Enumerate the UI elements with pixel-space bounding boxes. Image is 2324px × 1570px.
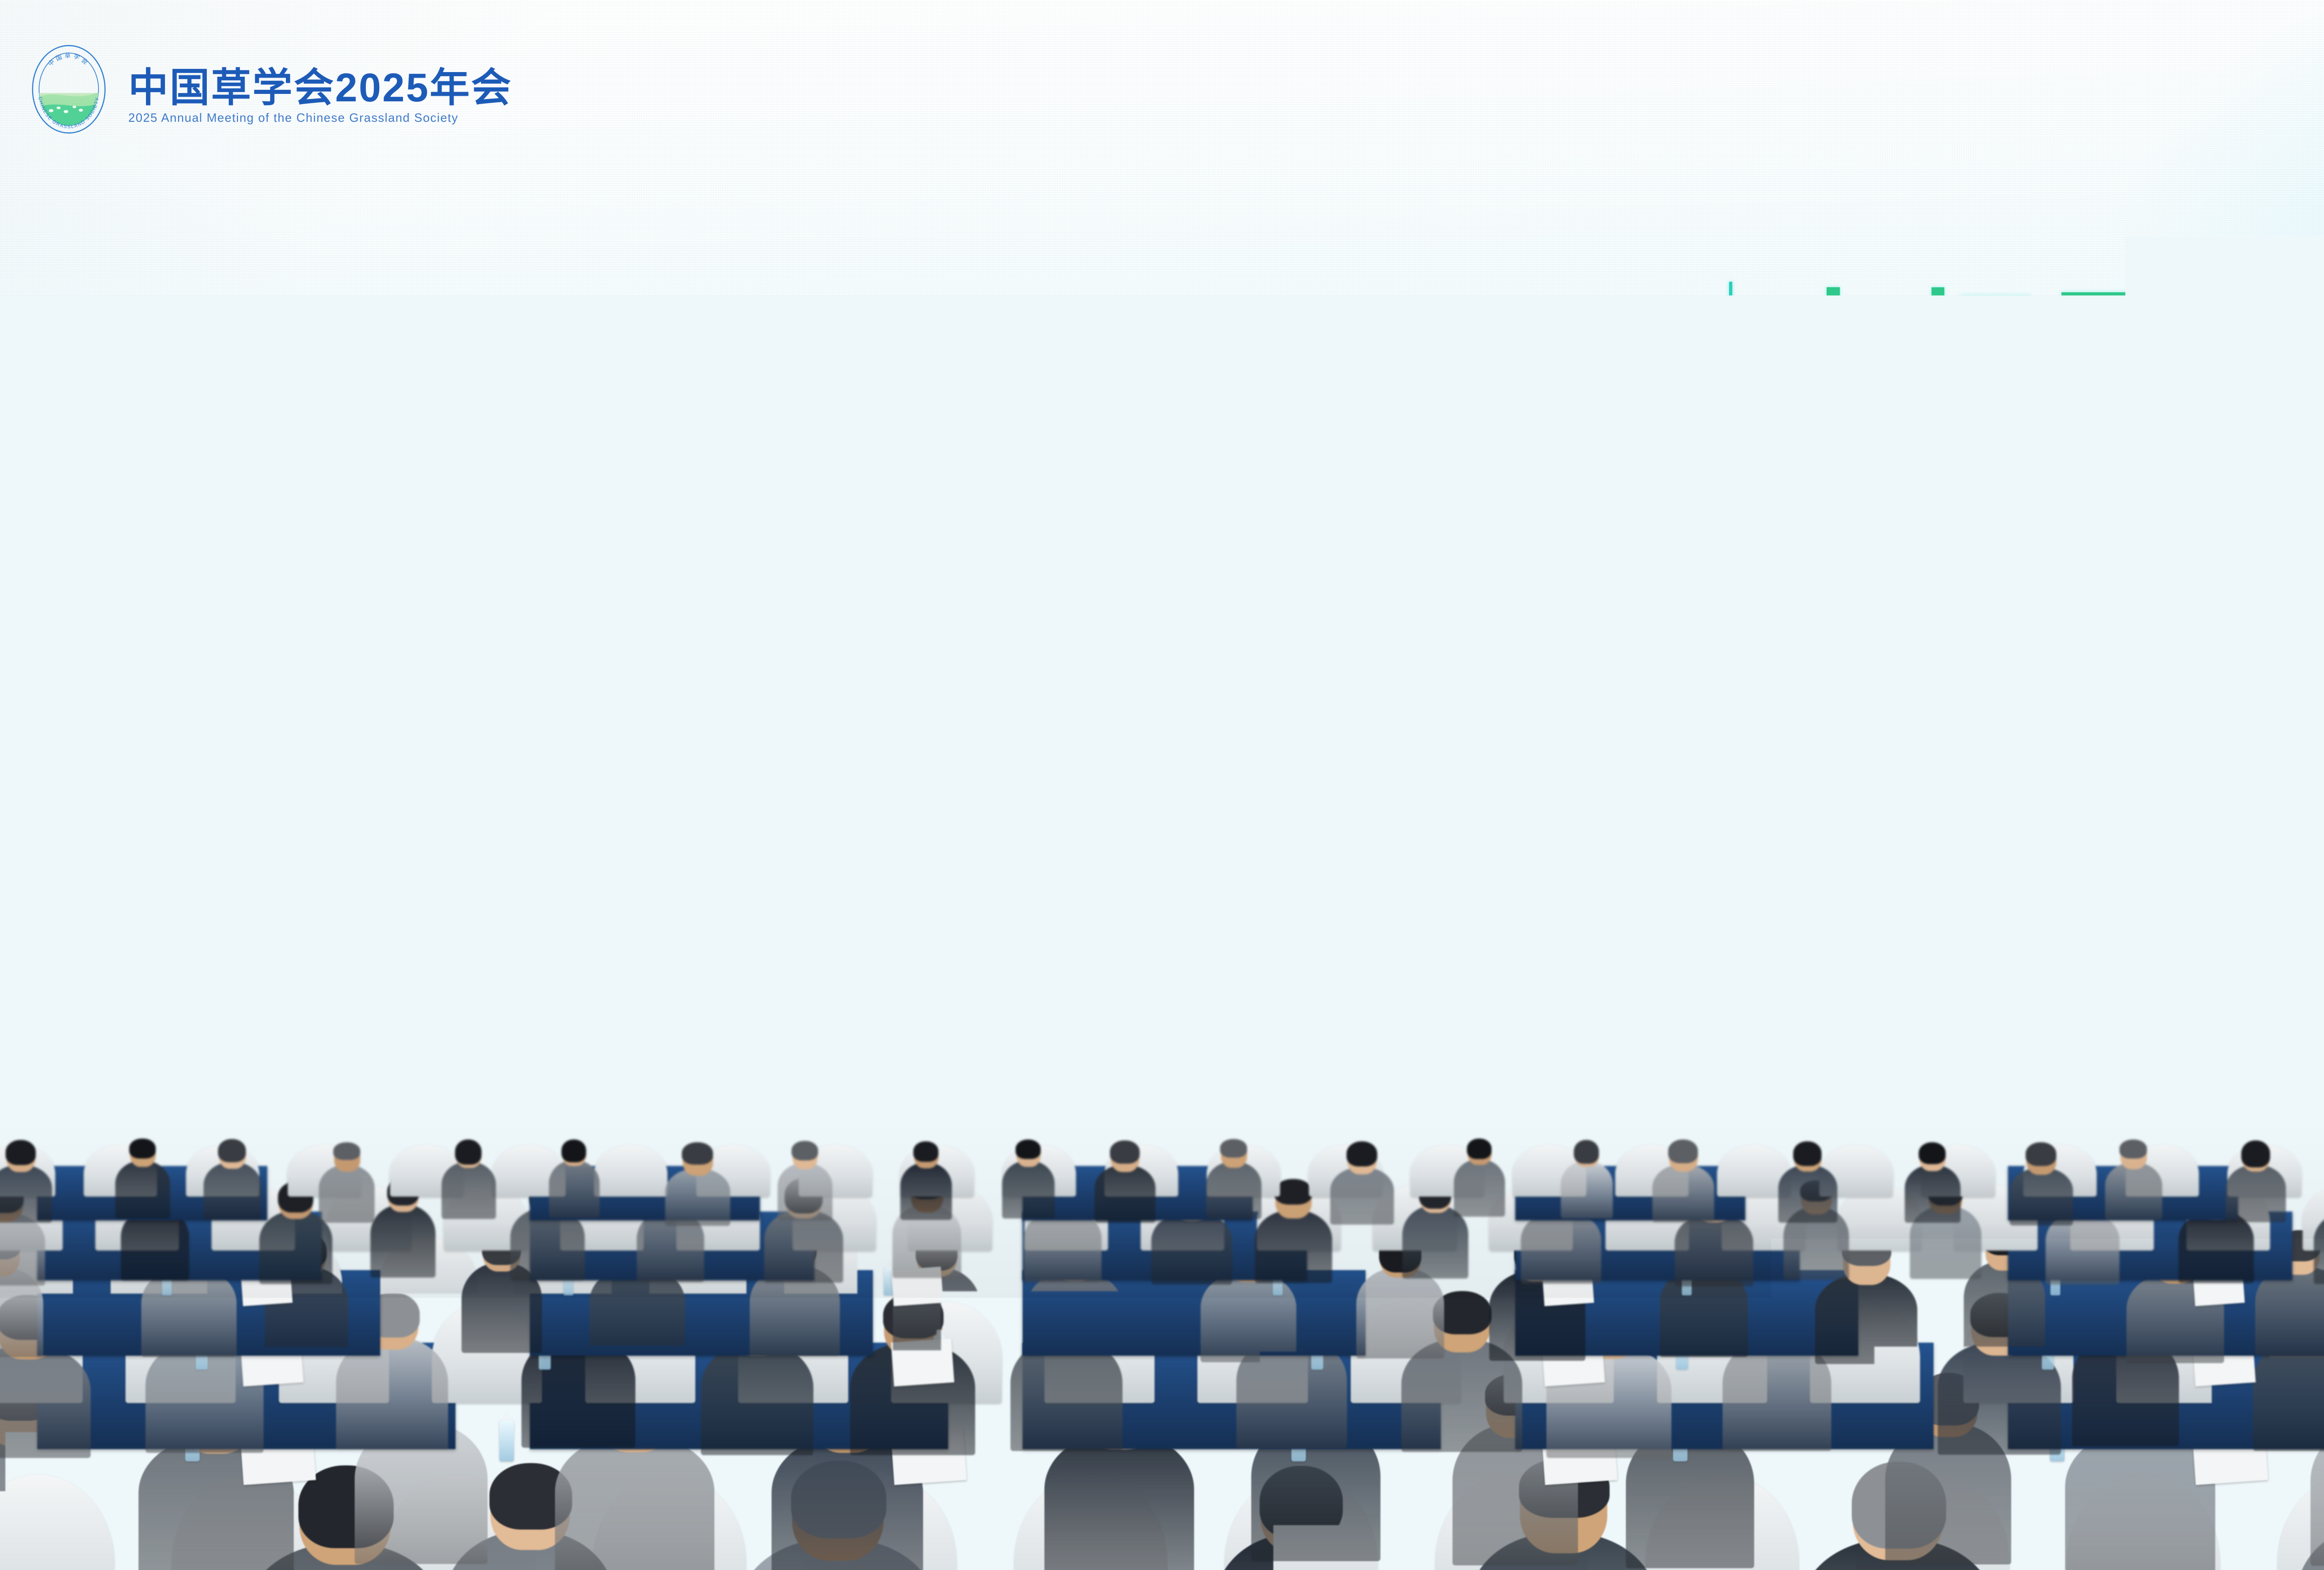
audience-member-hair bbox=[1347, 1141, 1377, 1166]
audience-member bbox=[1221, 1140, 1278, 1204]
panelist-seat: 于贵瑞 bbox=[2085, 848, 2182, 953]
audience-member bbox=[1669, 1140, 1732, 1204]
audience-member bbox=[562, 1140, 614, 1204]
audience-member-torso bbox=[319, 1165, 375, 1223]
audience-member-torso bbox=[2105, 1163, 2162, 1220]
audience-member bbox=[1111, 1141, 1173, 1205]
audience-member-hair bbox=[1110, 1140, 1139, 1164]
panelist-seat: 林 坚 bbox=[1787, 848, 1885, 953]
audience-member bbox=[456, 1140, 512, 1204]
water-bottle bbox=[500, 1420, 514, 1462]
audience-member-torso bbox=[0, 1345, 91, 1458]
audience-member-torso bbox=[1027, 1271, 1122, 1361]
panelist-hair bbox=[1814, 848, 1855, 872]
panelist-hair bbox=[1196, 848, 1237, 872]
panelist-hair bbox=[1517, 848, 1558, 872]
audience-member bbox=[334, 1143, 391, 1207]
conference-stage-screenshot: 中国草学会 CHINESE GRASSLAND SOCIETY 中国草学会202… bbox=[0, 0, 2324, 1570]
svg-text:中国草学会: 中国草学会 bbox=[46, 52, 91, 67]
audience-member-hair bbox=[218, 1139, 246, 1163]
lectern-organizers: 主办单位：中国草学会 承办单位：青岛农业大学 bbox=[523, 977, 663, 986]
audience-member-hair bbox=[1467, 1139, 1492, 1159]
panelist-seat: 南志标 bbox=[1936, 848, 2033, 953]
audience-member-torso bbox=[2010, 1168, 2073, 1226]
panelist-lanyard bbox=[1373, 900, 1375, 926]
audience-member-hair bbox=[455, 1139, 482, 1165]
audience-member bbox=[7, 1141, 70, 1205]
audience-member-hair bbox=[1793, 1141, 1822, 1166]
audience-member-hair bbox=[682, 1142, 713, 1165]
speaker-handle-slot bbox=[1001, 1054, 1009, 1078]
slide-kicker: 领导致辞 bbox=[1255, 409, 1729, 483]
audience-member bbox=[1794, 1142, 1855, 1206]
grassland-society-emblem-icon: 中国草学会 CHINESE GRASSLAND SOCIETY bbox=[22, 43, 115, 136]
audience-member-torso bbox=[1255, 1210, 1332, 1283]
panelist-seat: 李拥军 bbox=[1638, 848, 1736, 953]
audience-member bbox=[2027, 1143, 2092, 1207]
audience-member-torso bbox=[1151, 1212, 1232, 1285]
audience-member-torso bbox=[701, 1343, 813, 1455]
audience-member bbox=[2242, 1141, 2304, 1205]
audience-member-torso bbox=[665, 1169, 730, 1226]
audience-member-torso bbox=[2226, 1165, 2286, 1223]
audience-member-hair bbox=[333, 1142, 360, 1160]
audience-member-hair bbox=[561, 1139, 586, 1162]
title-divider-line bbox=[1729, 282, 1732, 649]
lectern-branding: 中国草学会2025年会 2025 Annual Meeting of the C… bbox=[507, 872, 683, 889]
panelist-seat: 张英俊 bbox=[1169, 848, 1267, 953]
audience-member-hair bbox=[1016, 1139, 1041, 1159]
audience-member bbox=[1575, 1141, 1628, 1205]
speaker-column: 李拥军 国家林业和草原局草原管理司司长 bbox=[1771, 279, 2324, 496]
audience-member-hair bbox=[129, 1139, 156, 1159]
audience-member bbox=[1017, 1140, 1070, 1204]
panelist-hair bbox=[1963, 848, 2004, 872]
panelist-hair bbox=[1354, 848, 1395, 872]
audience-member-torso bbox=[549, 1160, 600, 1218]
audience-area bbox=[0, 1120, 2324, 1570]
audience-member-hair bbox=[2026, 1142, 2056, 1166]
audience-member-torso bbox=[1095, 1165, 1155, 1223]
audience-member-torso bbox=[1044, 1433, 1194, 1570]
audience-member-torso bbox=[1675, 1213, 1753, 1286]
panelist-seat: 徐明岗 bbox=[2233, 848, 2324, 953]
audience-member bbox=[683, 1143, 749, 1207]
panelist-seat: 赵东海 bbox=[1327, 848, 1425, 953]
lectern-tagline: 科技赋能草地“中国” bbox=[523, 957, 663, 977]
speaker-name: 李拥军 bbox=[1771, 285, 2324, 417]
audience-member-torso bbox=[442, 1162, 496, 1219]
audience-member-hair bbox=[2241, 1140, 2270, 1167]
audience-member-torso bbox=[555, 1435, 714, 1570]
audience-member-torso bbox=[1002, 1161, 1055, 1219]
audience-member-torso bbox=[0, 1212, 45, 1285]
audience-member-torso bbox=[1652, 1165, 1714, 1222]
audience-member bbox=[1468, 1139, 1520, 1203]
audience-member bbox=[914, 1142, 967, 1206]
audience-member-hair bbox=[913, 1141, 938, 1162]
audience-member-hair bbox=[2119, 1139, 2147, 1159]
kicker-column: 领导致辞 bbox=[1255, 279, 1729, 483]
audience-member-torso bbox=[115, 1161, 170, 1219]
audience-member-torso bbox=[1815, 1274, 1917, 1365]
audience-member-torso bbox=[370, 1205, 436, 1278]
panelist-lanyard bbox=[2279, 900, 2282, 926]
speaker-role: 国家林业和草原局草原管理司司长 bbox=[1771, 432, 2324, 496]
audience-member-hair bbox=[1574, 1140, 1599, 1164]
audience-member-torso bbox=[1206, 1162, 1261, 1219]
panelist-hair bbox=[2260, 848, 2301, 872]
audience-member-torso bbox=[2065, 1431, 2215, 1570]
audience-member-torso bbox=[1561, 1161, 1612, 1219]
audience-member-hair bbox=[1274, 1179, 1312, 1205]
lectern-logo-en: 2025 Annual Meeting of the Chinese Grass… bbox=[507, 884, 683, 888]
panelist-seat: 王加亭 bbox=[1490, 848, 1587, 953]
panelist-lanyard bbox=[1833, 900, 1835, 926]
audience-member-torso bbox=[1521, 1211, 1601, 1284]
audience-member-hair bbox=[1220, 1139, 1247, 1158]
audience-member-torso bbox=[1330, 1167, 1394, 1225]
speaker-connector-panel bbox=[907, 1059, 931, 1074]
audience-member-torso bbox=[764, 1210, 843, 1283]
audience-member-hair bbox=[1668, 1139, 1698, 1163]
stage-deck-edge bbox=[0, 1018, 2324, 1038]
audience-member bbox=[1920, 1143, 1977, 1207]
audience-member bbox=[219, 1140, 278, 1204]
audience-member bbox=[792, 1142, 849, 1206]
audience-member-torso bbox=[0, 1165, 52, 1223]
audience-member-torso bbox=[1356, 1268, 1444, 1358]
slide-title-block: 领导致辞 李拥军 国家林业和草原局草原管理司司长 bbox=[1255, 279, 2324, 649]
audience-member-hair bbox=[6, 1140, 36, 1165]
audience-member bbox=[130, 1139, 186, 1203]
audience-member-hair bbox=[1919, 1142, 1946, 1164]
audience-member-hair bbox=[792, 1141, 818, 1160]
panelist-hair bbox=[2112, 848, 2152, 872]
audience-member-torso bbox=[778, 1163, 832, 1221]
audience-member-torso bbox=[1778, 1165, 1837, 1223]
audience-member-torso bbox=[900, 1163, 952, 1220]
audience-member-torso bbox=[1905, 1165, 1961, 1223]
floor-monitor-speaker-left bbox=[897, 1030, 1050, 1100]
audience-member bbox=[1347, 1142, 1413, 1206]
speaker-glasses-icon bbox=[569, 738, 601, 747]
audience-member bbox=[2120, 1140, 2179, 1204]
panelists-row: 张英俊赵东海王加亭李拥军林 坚南志标于贵瑞徐明岗Gerrit Gerritsen… bbox=[1062, 841, 2324, 953]
audience-member-torso bbox=[1454, 1159, 1505, 1217]
logo-title-cn: 中国草学会2025年会 bbox=[128, 68, 512, 108]
audience-member-torso bbox=[204, 1162, 261, 1220]
conference-logo: 中国草学会 CHINESE GRASSLAND SOCIETY 中国草学会202… bbox=[22, 43, 512, 136]
logo-title-en: 2025 Annual Meeting of the Chinese Grass… bbox=[128, 111, 512, 125]
